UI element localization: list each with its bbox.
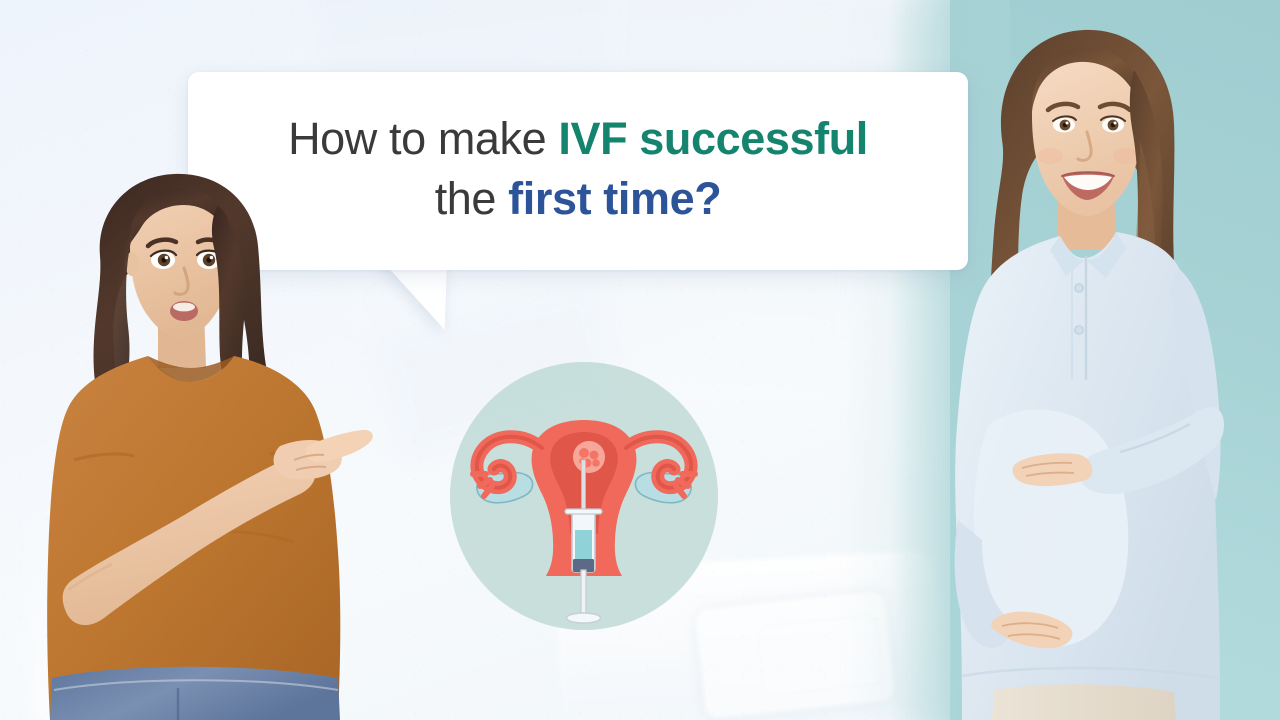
uterus-embryo-transfer-icon [450,362,718,630]
woman-pointing-art [8,160,408,720]
headline-line1-accent: IVF successful [558,113,868,164]
headline-line2-accent: first time? [508,173,721,224]
banner-stage: How to make IVF successful the first tim… [0,0,1280,720]
uterus-icon-art [450,362,718,630]
pregnant-woman-photo [890,0,1270,720]
woman-pointing-photo [8,160,408,720]
headline-line1-plain: How to make [288,113,558,164]
headline-line2-plain: the [435,173,508,224]
pregnant-woman-art [890,0,1270,720]
